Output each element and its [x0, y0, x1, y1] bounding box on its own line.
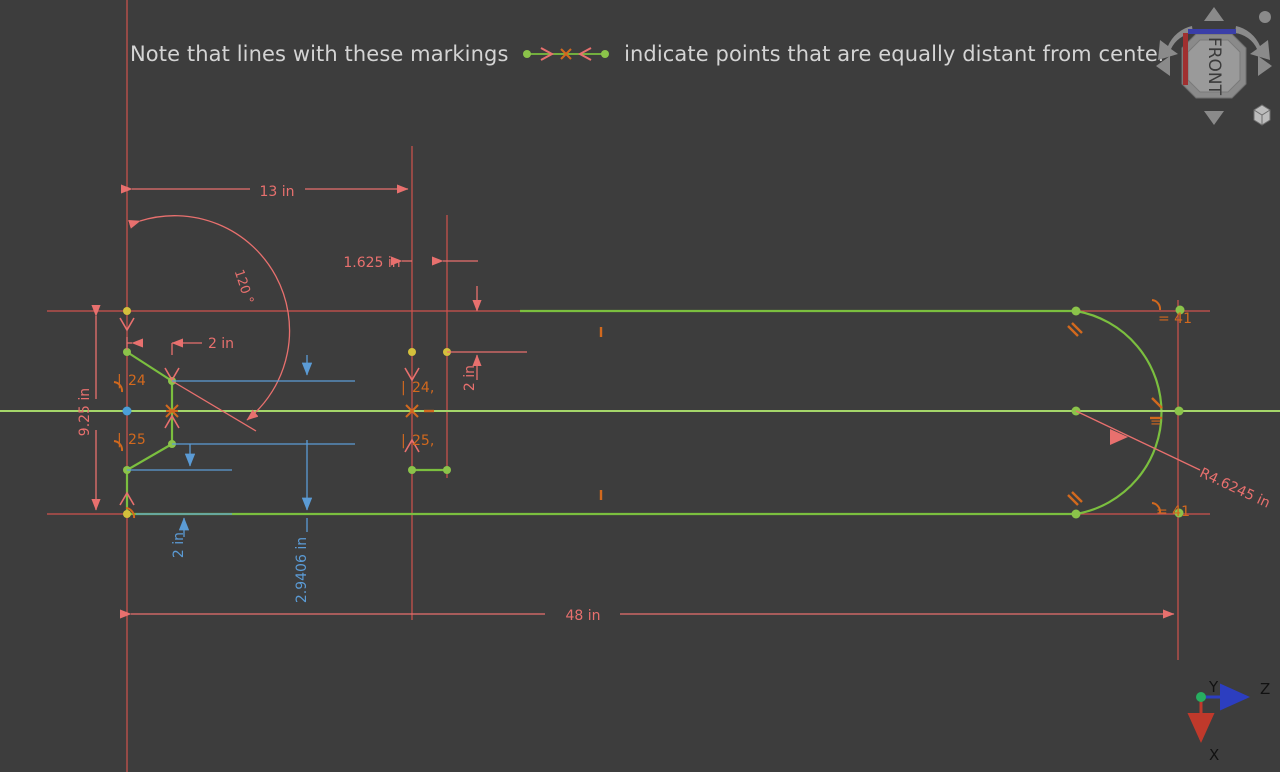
constraint-tangent-right: = [1150, 415, 1162, 431]
constraint-glyphs[interactable] [114, 300, 1162, 518]
model-geometry[interactable] [127, 311, 1161, 514]
home-cube-icon[interactable] [1254, 105, 1270, 125]
constraint-sym-24-left: 24 [128, 373, 146, 389]
annotation-note: Note that lines with these markings indi… [130, 42, 1167, 67]
cube-top-edge [1188, 29, 1236, 34]
constraint-sym-24-mid: 24, [412, 380, 434, 396]
constraint-sym-25-left: 25 [128, 432, 146, 448]
constraint-equal-41-top: = 41 [1158, 311, 1192, 327]
geometry-right-arc [1076, 311, 1161, 514]
cad-sketch-drawing[interactable]: 13 in 1.625 in 120 ° 2 in 9.25 in 2 in 2… [0, 0, 1280, 772]
label-29406in: 2.9406 in [294, 537, 310, 603]
dimension-radius[interactable] [1076, 411, 1200, 470]
rotate-right-arrow-icon[interactable] [1258, 56, 1272, 76]
dimension-blue-upper-a[interactable] [172, 355, 355, 381]
dimension-120deg[interactable] [140, 216, 290, 431]
note-text-before: Note that lines with these markings [130, 42, 509, 66]
rotate-down-arrow-icon[interactable] [1204, 111, 1224, 125]
constraint-sym-24-mid-bar: | [401, 380, 406, 396]
axis-y-label: Y [1208, 678, 1219, 696]
constraint-sym-25-mid: 25, [412, 433, 434, 449]
label-13in: 13 in [259, 184, 294, 200]
axis-y-origin [1196, 692, 1206, 702]
note-text-after: indicate points that are equally distant… [624, 42, 1167, 66]
view-cube-label: FRONT [1204, 37, 1224, 96]
constraint-sym-24-left-bar: | [117, 373, 122, 389]
axis-triad: Y Z X [1185, 672, 1280, 772]
dimension-2in-top[interactable] [127, 337, 202, 355]
axis-z-label: Z [1260, 680, 1270, 698]
rotate-up-arrow-icon[interactable] [1204, 7, 1224, 21]
options-dot-icon[interactable] [1259, 11, 1271, 23]
dimension-2in-mid[interactable] [447, 286, 527, 380]
label-1625in: 1.625 in [343, 255, 400, 271]
label-2in-low: 2 in [171, 532, 187, 558]
view-cube-widget[interactable]: FRONT [1148, 0, 1280, 132]
label-120deg: 120 ° [231, 268, 256, 306]
constraint-equal-41-bot: = 41 [1156, 504, 1190, 520]
label-2in-mid: 2 in [462, 365, 478, 391]
axis-x-label: X [1209, 746, 1219, 764]
arc-constraint-glyphs [114, 300, 1160, 518]
label-925in: 9.25 in [77, 388, 93, 436]
label-2in-top: 2 in [208, 336, 234, 352]
label-radius: R4.6245 in [1197, 465, 1273, 512]
view-cube-face[interactable]: FRONT [1182, 29, 1246, 98]
rotate-left-arrow-icon[interactable] [1156, 56, 1170, 76]
construction-lines [47, 0, 1210, 772]
symmetry-marker-icon [521, 43, 611, 67]
cube-left-edge [1183, 33, 1188, 85]
label-48in: 48 in [565, 608, 600, 624]
constraint-sym-25-mid-bar: | [401, 433, 406, 449]
sketch-canvas[interactable]: 13 in 1.625 in 120 ° 2 in 9.25 in 2 in 2… [0, 0, 1280, 772]
dimension-blue-upper-b[interactable] [172, 444, 355, 466]
constraint-labels[interactable]: | 24 | 25 | 24, | 25, = 41 = 41 = [117, 311, 1192, 520]
constraint-sym-25-left-bar: | [117, 432, 122, 448]
